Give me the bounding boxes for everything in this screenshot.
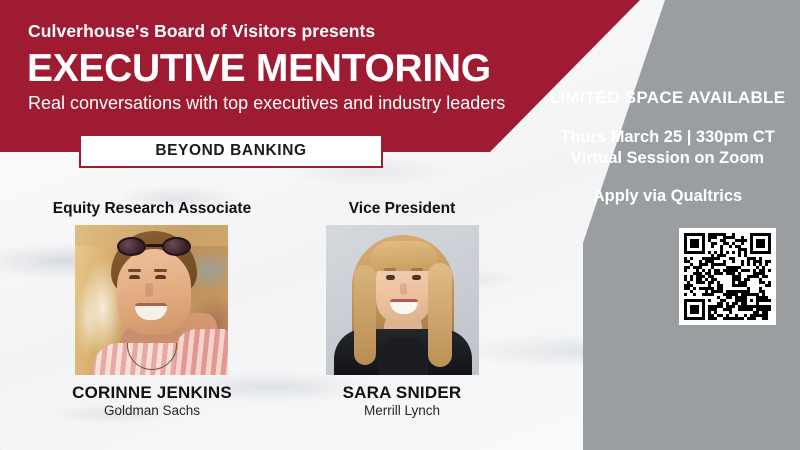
speaker-2-name: SARA SNIDER: [302, 383, 502, 403]
event-schedule: Thurs March 25 | 330pm CT Virtual Sessio…: [545, 127, 790, 169]
speaker-1-company: Goldman Sachs: [52, 403, 252, 418]
speaker-2-role: Vice President: [302, 200, 502, 218]
qr-code-image: [684, 233, 771, 320]
beyond-banking-badge: BEYOND BANKING: [79, 134, 383, 168]
kicker-text: Culverhouse's Board of Visitors presents: [28, 21, 375, 42]
qr-code[interactable]: [679, 228, 776, 325]
event-date-time: Thurs March 25 | 330pm CT: [545, 127, 790, 148]
executive-mentoring-flyer: Culverhouse's Board of Visitors presents…: [0, 0, 800, 450]
portrait-sara-snider: [326, 225, 479, 375]
badge-label: BEYOND BANKING: [155, 142, 306, 160]
speaker-2-company: Merrill Lynch: [302, 403, 502, 418]
limited-space-heading: LIMITED SPACE AVAILABLE: [545, 88, 790, 108]
apply-instruction: Apply via Qualtrics: [545, 187, 790, 206]
subtitle-text: Real conversations with top executives a…: [28, 93, 505, 114]
speaker-1-name: CORINNE JENKINS: [52, 383, 252, 403]
page-title: EXECUTIVE MENTORING: [27, 47, 491, 91]
portrait-corinne-jenkins: [75, 225, 228, 375]
sunglasses-on-head-icon: [115, 237, 195, 257]
event-format: Virtual Session on Zoom: [545, 148, 790, 169]
speaker-1-role: Equity Research Associate: [52, 200, 252, 218]
